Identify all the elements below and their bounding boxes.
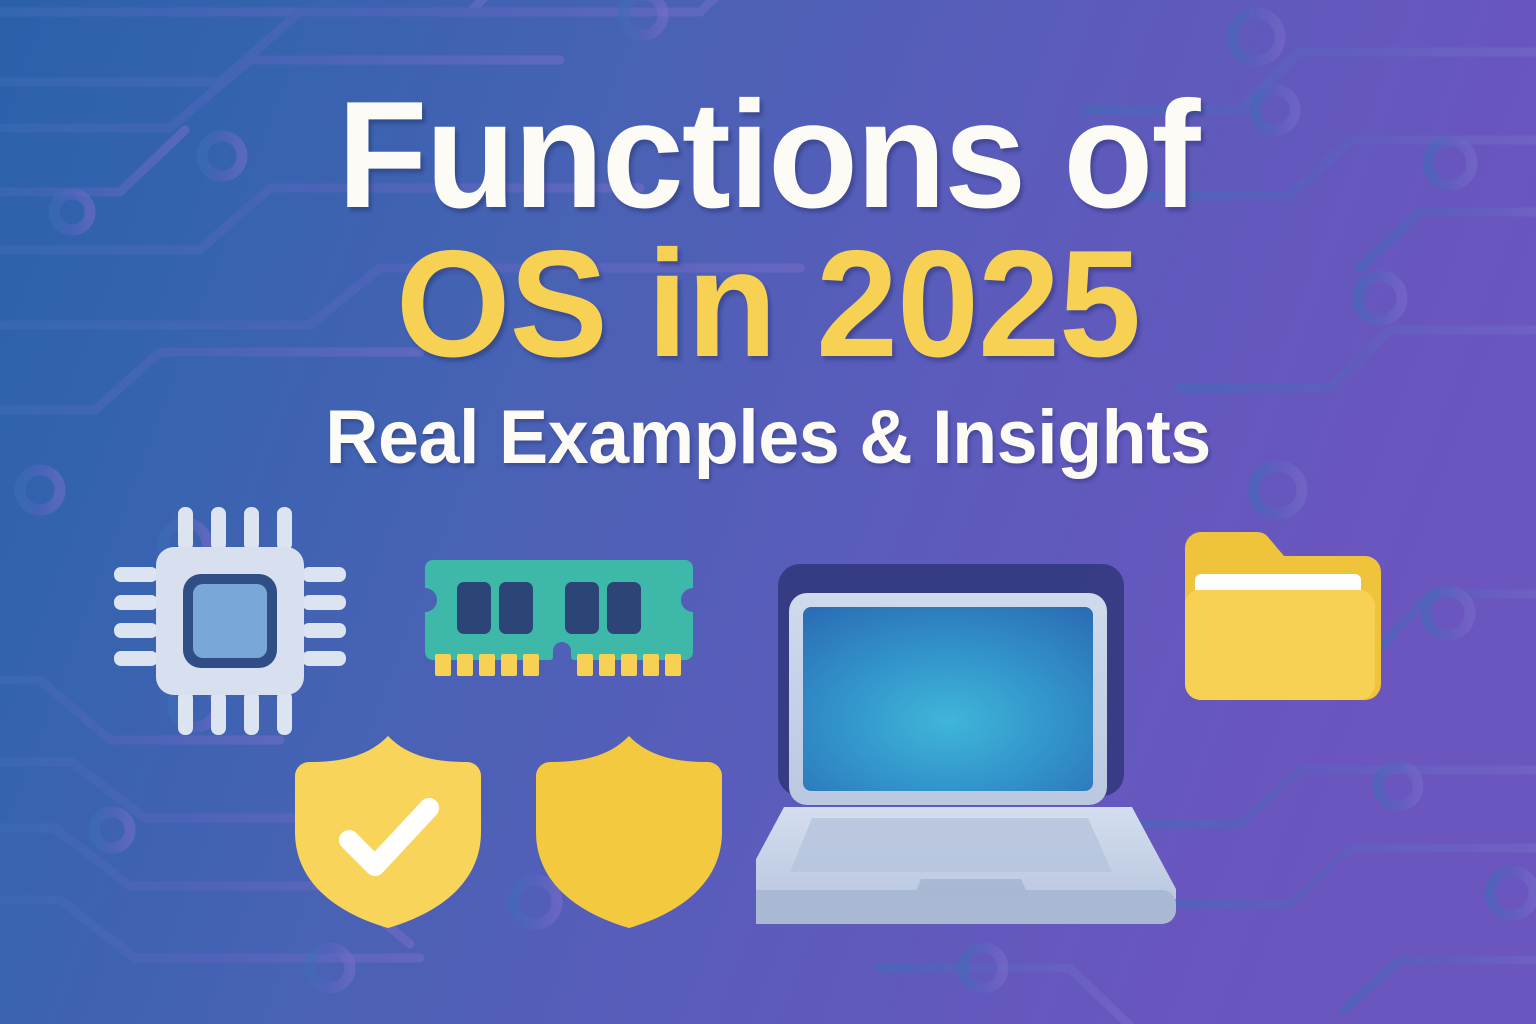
os-functions-banner: Functions of OS in 2025 Real Examples & … (0, 0, 1536, 1024)
headline-subtitle: Real Examples & Insights (23, 398, 1513, 478)
laptop-icon (756, 560, 1176, 932)
ram-module-icon (413, 556, 695, 686)
cpu-chip-icon (112, 505, 348, 737)
shield-plain-icon (534, 734, 724, 930)
shield-check-icon (293, 734, 483, 930)
headline-block: Functions of OS in 2025 Real Examples & … (0, 78, 1536, 478)
headline-line-1: Functions of (23, 78, 1513, 233)
headline-line-2: OS in 2025 (23, 227, 1513, 382)
folder-icon (1175, 530, 1381, 700)
